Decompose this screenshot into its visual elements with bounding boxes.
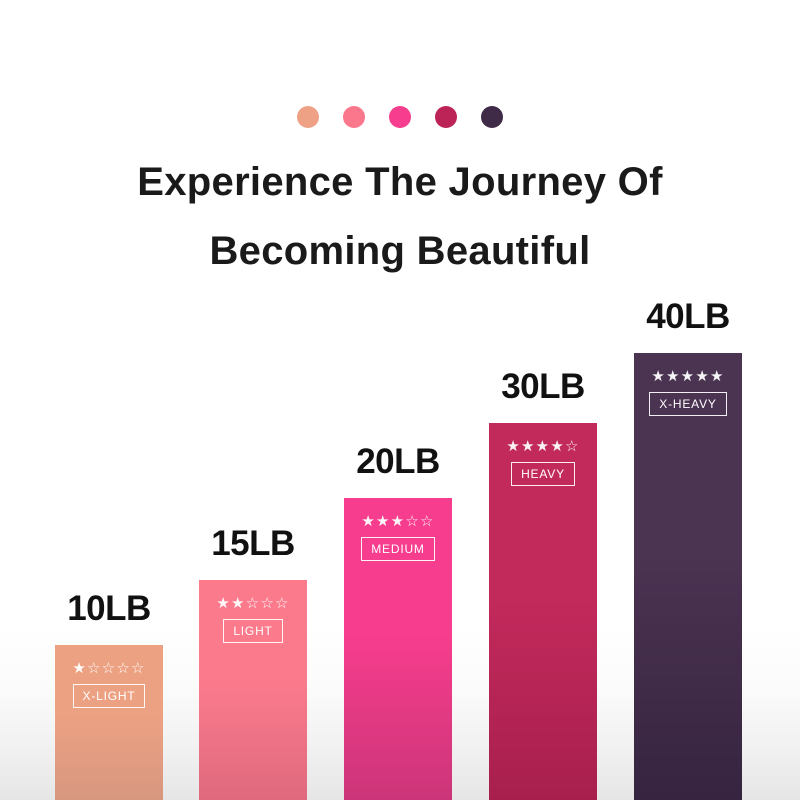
bar-40lb-value-label: 40LB: [646, 297, 730, 337]
bar-30lb-star-rating: ★★★★☆: [506, 439, 579, 455]
bar-20lb-value-label: 20LB: [356, 442, 440, 482]
bar-20lb-column: ★★★☆☆MEDIUM: [344, 498, 452, 800]
bar-10lb-column: ★☆☆☆☆X-LIGHT: [55, 645, 163, 800]
promo-infographic: Experience The Journey Of Becoming Beaut…: [0, 0, 800, 800]
bar-10lb[interactable]: 10LB★☆☆☆☆X-LIGHT: [55, 0, 163, 800]
bar-30lb-column: ★★★★☆HEAVY: [489, 423, 597, 800]
bar-20lb-badge-group: ★★★☆☆MEDIUM: [344, 514, 452, 561]
bar-20lb-tier-badge: MEDIUM: [361, 537, 434, 561]
bar-10lb-star-rating: ★☆☆☆☆: [72, 661, 145, 677]
bar-30lb-badge-group: ★★★★☆HEAVY: [489, 439, 597, 486]
bar-15lb[interactable]: 15LB★★☆☆☆LIGHT: [199, 0, 307, 800]
bar-30lb-tier-badge: HEAVY: [511, 462, 575, 486]
bar-30lb-value-label: 30LB: [501, 367, 585, 407]
bar-10lb-tier-badge: X-LIGHT: [73, 684, 146, 708]
bar-10lb-value-label: 10LB: [67, 589, 151, 629]
bar-15lb-value-label: 15LB: [211, 524, 295, 564]
bar-20lb[interactable]: 20LB★★★☆☆MEDIUM: [344, 0, 452, 800]
bar-30lb[interactable]: 30LB★★★★☆HEAVY: [489, 0, 597, 800]
bar-15lb-tier-badge: LIGHT: [223, 619, 282, 643]
bar-20lb-star-rating: ★★★☆☆: [361, 514, 434, 530]
bar-10lb-badge-group: ★☆☆☆☆X-LIGHT: [55, 661, 163, 708]
bar-15lb-star-rating: ★★☆☆☆: [216, 596, 289, 612]
bar-40lb-tier-badge: X-HEAVY: [649, 392, 726, 416]
bar-15lb-column: ★★☆☆☆LIGHT: [199, 580, 307, 800]
bar-40lb-badge-group: ★★★★★X-HEAVY: [634, 369, 742, 416]
resistance-band-bar-chart: 10LB★☆☆☆☆X-LIGHT15LB★★☆☆☆LIGHT20LB★★★☆☆M…: [0, 0, 800, 800]
bar-15lb-badge-group: ★★☆☆☆LIGHT: [199, 596, 307, 643]
bar-40lb-star-rating: ★★★★★: [651, 369, 724, 385]
bar-40lb-column: ★★★★★X-HEAVY: [634, 353, 742, 800]
bar-40lb[interactable]: 40LB★★★★★X-HEAVY: [634, 0, 742, 800]
